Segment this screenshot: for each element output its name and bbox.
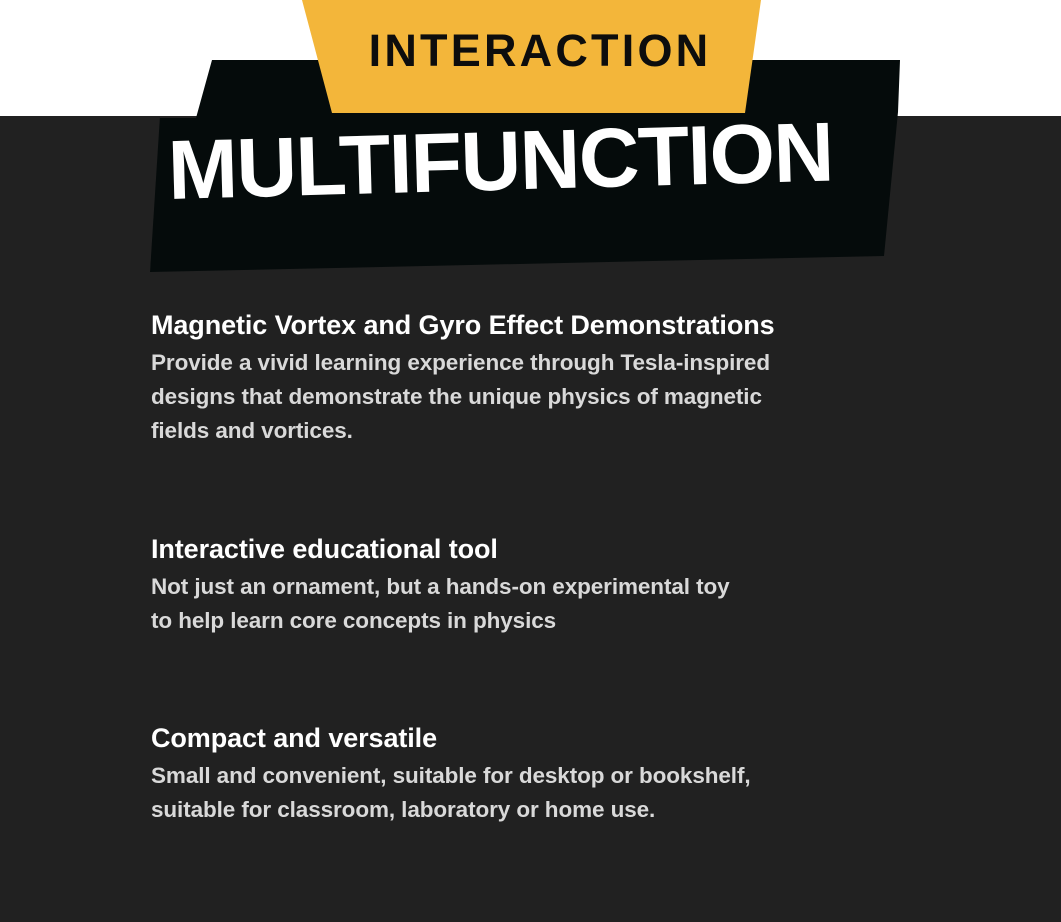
eyebrow-label: INTERACTION xyxy=(330,28,750,73)
page-title: MULTIFUNCTION xyxy=(167,109,834,213)
feature-body: Provide a vivid learning experience thro… xyxy=(151,346,1041,449)
feature-item: Compact and versatile Small and convenie… xyxy=(151,723,1041,827)
feature-body: Small and convenient, suitable for deskt… xyxy=(151,759,1041,827)
product-feature-poster: INTERACTION MULTIFUNCTION Magnetic Vorte… xyxy=(0,0,1061,922)
feature-body: Not just an ornament, but a hands-on exp… xyxy=(151,570,1041,638)
feature-item: Magnetic Vortex and Gyro Effect Demonstr… xyxy=(151,310,1041,448)
feature-title: Magnetic Vortex and Gyro Effect Demonstr… xyxy=(151,310,1041,342)
feature-title: Compact and versatile xyxy=(151,723,1041,755)
feature-list: Magnetic Vortex and Gyro Effect Demonstr… xyxy=(151,310,1041,827)
feature-title: Interactive educational tool xyxy=(151,534,1041,566)
feature-spacer xyxy=(151,639,1041,723)
poster-title-wrapper: MULTIFUNCTION xyxy=(167,109,834,213)
feature-item: Interactive educational tool Not just an… xyxy=(151,534,1041,638)
slab-left-fill xyxy=(0,116,160,272)
feature-spacer xyxy=(151,448,1041,534)
